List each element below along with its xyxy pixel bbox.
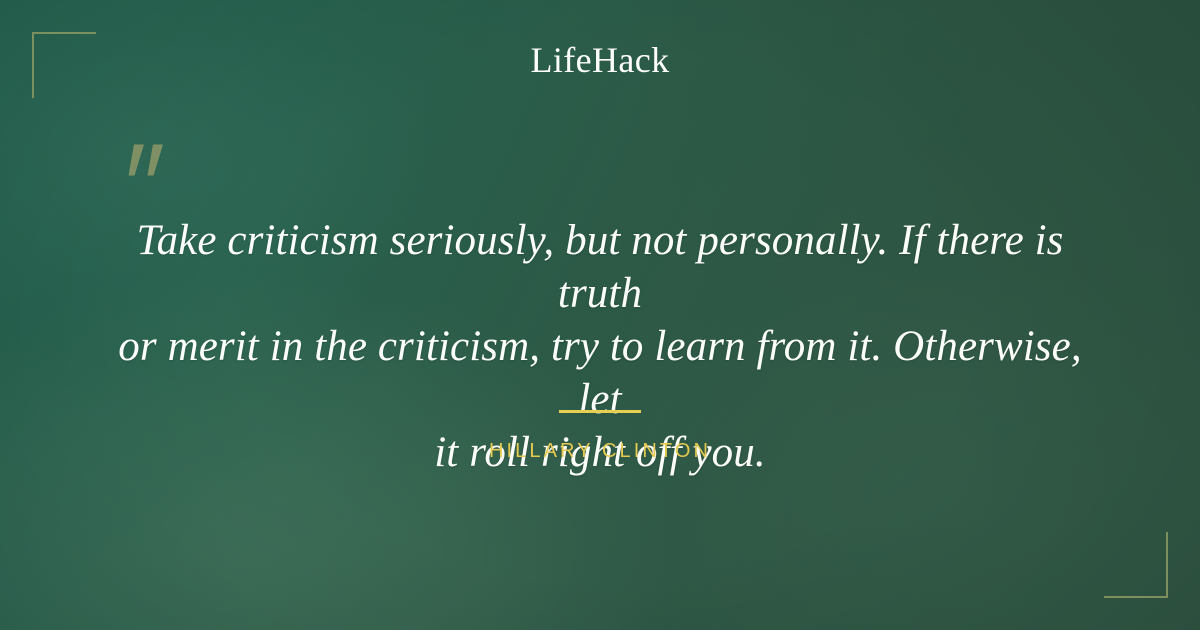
- corner-bracket-bottom-right-icon: [1104, 532, 1168, 598]
- brand-logo: LifeHack: [0, 38, 1200, 82]
- quote-card: LifeHack Take criticism seriously, but n…: [0, 0, 1200, 630]
- quote-line: Take criticism seriously, but not person…: [96, 214, 1104, 320]
- double-quote-icon: [126, 141, 182, 191]
- quote-author: HILLARY CLINTON: [0, 438, 1200, 464]
- attribution-divider: [559, 410, 641, 413]
